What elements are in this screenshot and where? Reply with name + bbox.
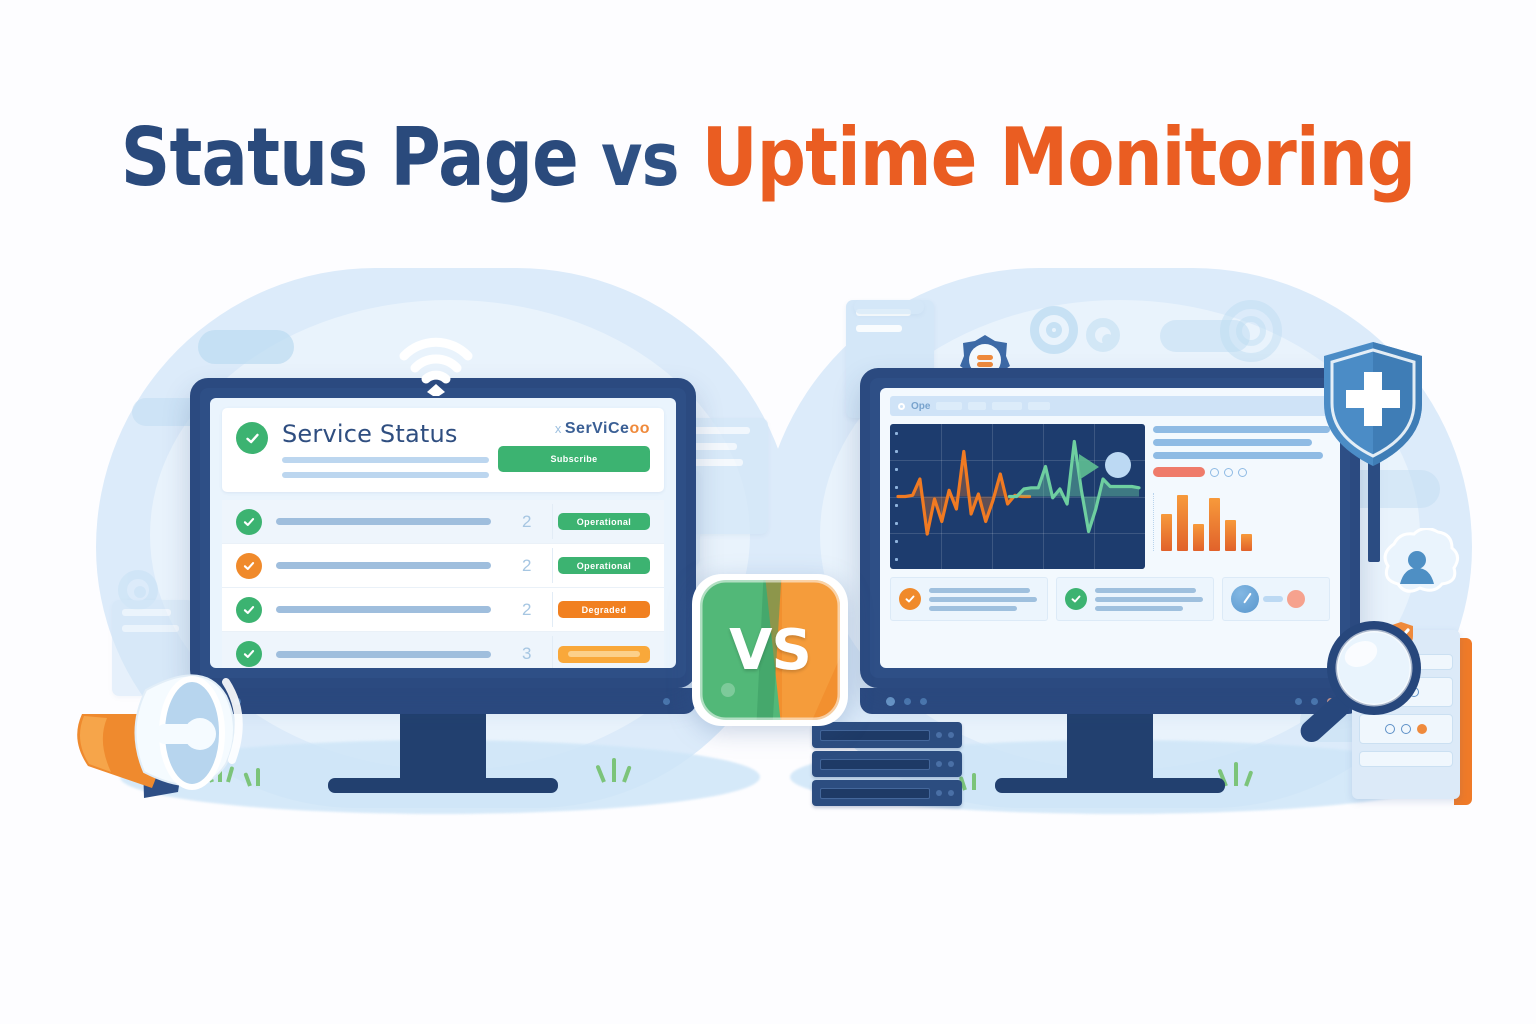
status-page-header: Service Status xSerViCeoo Subscribe bbox=[222, 408, 664, 492]
table-row[interactable]: 2 Degraded bbox=[222, 588, 664, 632]
check-circle-icon bbox=[236, 597, 262, 623]
monitor-indicator-dots bbox=[886, 697, 927, 706]
wifi-icon bbox=[398, 336, 474, 396]
status-card[interactable] bbox=[1056, 577, 1214, 621]
sidebar-bar bbox=[1153, 439, 1312, 446]
service-name-placeholder bbox=[276, 562, 491, 569]
shield-cross-icon bbox=[1318, 338, 1428, 478]
row-divider bbox=[552, 636, 553, 668]
sidebar-bar bbox=[1153, 426, 1330, 433]
row-divider bbox=[552, 592, 553, 627]
bar-4 bbox=[1209, 498, 1220, 551]
chart-marker-dot bbox=[1105, 452, 1131, 478]
brand-prefix: x bbox=[555, 421, 562, 436]
record-dot-icon bbox=[898, 403, 905, 410]
row-divider bbox=[552, 504, 553, 539]
card-text-lines bbox=[1095, 588, 1205, 611]
vs-label: VS bbox=[686, 566, 854, 734]
gauge-icon bbox=[1231, 585, 1259, 613]
sidebar-bar bbox=[1153, 452, 1323, 459]
cloud-icon bbox=[198, 330, 294, 364]
check-circle-icon bbox=[899, 588, 921, 610]
table-row[interactable]: 2 Operational bbox=[222, 544, 664, 588]
row-divider bbox=[552, 548, 553, 583]
vs-badge: VS bbox=[686, 566, 854, 734]
dashboard-cards bbox=[890, 577, 1330, 621]
megaphone-icon bbox=[60, 630, 310, 820]
server-unit bbox=[812, 780, 962, 806]
status-badge: Operational bbox=[558, 557, 650, 574]
bar-6 bbox=[1241, 534, 1252, 551]
placeholder-bar bbox=[282, 472, 489, 478]
table-row[interactable]: 2 Operational bbox=[222, 500, 664, 544]
topbar-segment bbox=[1028, 402, 1050, 410]
uptime-monitoring-screen: Ope bbox=[880, 388, 1340, 668]
status-page-screen: Service Status xSerViCeoo Subscribe bbox=[210, 398, 676, 668]
server-unit bbox=[812, 751, 962, 777]
check-circle-icon bbox=[1065, 588, 1087, 610]
title-part-2: Uptime Monitoring bbox=[702, 111, 1415, 204]
user-avatar-icon bbox=[1374, 528, 1460, 608]
brand-mark: oo bbox=[629, 420, 650, 437]
status-badge-label: Operational bbox=[577, 561, 631, 571]
monitor-chin-right bbox=[860, 688, 1360, 714]
chart-series-paths bbox=[890, 424, 1145, 569]
circles-icon bbox=[1210, 468, 1219, 477]
status-badge bbox=[558, 646, 650, 663]
service-name-placeholder bbox=[276, 518, 491, 525]
card-text-lines bbox=[929, 588, 1039, 611]
check-circle-icon bbox=[236, 422, 268, 454]
gear-icon bbox=[1220, 300, 1282, 362]
topbar-segment bbox=[968, 402, 986, 410]
row-number: 2 bbox=[522, 556, 531, 576]
dashboard-sidebar bbox=[1153, 424, 1330, 569]
topbar-segment bbox=[936, 402, 962, 410]
topbar-segment bbox=[992, 402, 1022, 410]
row-number: 2 bbox=[522, 512, 531, 532]
server-stack-icon bbox=[812, 722, 962, 814]
subscribe-button[interactable]: Subscribe bbox=[498, 446, 650, 472]
check-circle-icon bbox=[236, 553, 262, 579]
link-connector bbox=[1263, 596, 1283, 602]
page-title: Status Page vs Uptime Monitoring bbox=[0, 118, 1536, 198]
alert-fill-bar bbox=[1153, 467, 1205, 477]
brand-logo: xSerViCeoo bbox=[498, 420, 650, 438]
dashboard-body bbox=[890, 424, 1330, 569]
placeholder-bar bbox=[282, 457, 489, 463]
sidebar-bar-chart bbox=[1153, 493, 1330, 551]
title-vs: vs bbox=[601, 117, 679, 203]
check-circle-icon bbox=[236, 509, 262, 535]
bar-5 bbox=[1225, 520, 1236, 551]
monitor-indicator-dots bbox=[663, 698, 670, 705]
sidebar-alert-band bbox=[1153, 467, 1330, 477]
subscribe-label: Subscribe bbox=[550, 454, 597, 464]
monitor-neck-left bbox=[400, 714, 486, 778]
title-part-1: Status Page bbox=[121, 111, 578, 204]
alert-circle-icon bbox=[1287, 590, 1305, 608]
bar-3 bbox=[1193, 524, 1204, 551]
status-badge: Degraded bbox=[558, 601, 650, 618]
monitor-neck-right bbox=[1067, 714, 1153, 778]
dashboard-topbar: Ope bbox=[890, 396, 1330, 416]
gear-icon bbox=[1030, 306, 1078, 354]
magnifier-icon bbox=[1290, 612, 1430, 762]
play-triangle-icon bbox=[1079, 454, 1099, 480]
circles-icon bbox=[1224, 468, 1233, 477]
gear-icon bbox=[1086, 318, 1120, 352]
monitor-base-left bbox=[328, 778, 558, 793]
topbar-label: Ope bbox=[911, 401, 930, 412]
status-card[interactable] bbox=[890, 577, 1048, 621]
status-badge: Operational bbox=[558, 513, 650, 530]
bar-2 bbox=[1177, 495, 1188, 551]
row-number: 2 bbox=[522, 600, 531, 620]
background-doc-card bbox=[854, 300, 924, 314]
status-badge-fill bbox=[568, 651, 640, 657]
brand-name: SerViCe bbox=[565, 420, 630, 437]
monitor-base-right bbox=[995, 778, 1225, 793]
bar-1 bbox=[1161, 514, 1172, 551]
status-page-title: Service Status bbox=[282, 420, 498, 448]
row-number: 3 bbox=[522, 644, 531, 664]
illustration-canvas: Status Page vs Uptime Monitoring bbox=[0, 0, 1536, 1024]
status-badge-label: Degraded bbox=[582, 605, 627, 615]
uptime-line-chart bbox=[890, 424, 1145, 569]
status-badge-label: Operational bbox=[577, 517, 631, 527]
circles-icon bbox=[1238, 468, 1247, 477]
service-name-placeholder bbox=[276, 606, 491, 613]
